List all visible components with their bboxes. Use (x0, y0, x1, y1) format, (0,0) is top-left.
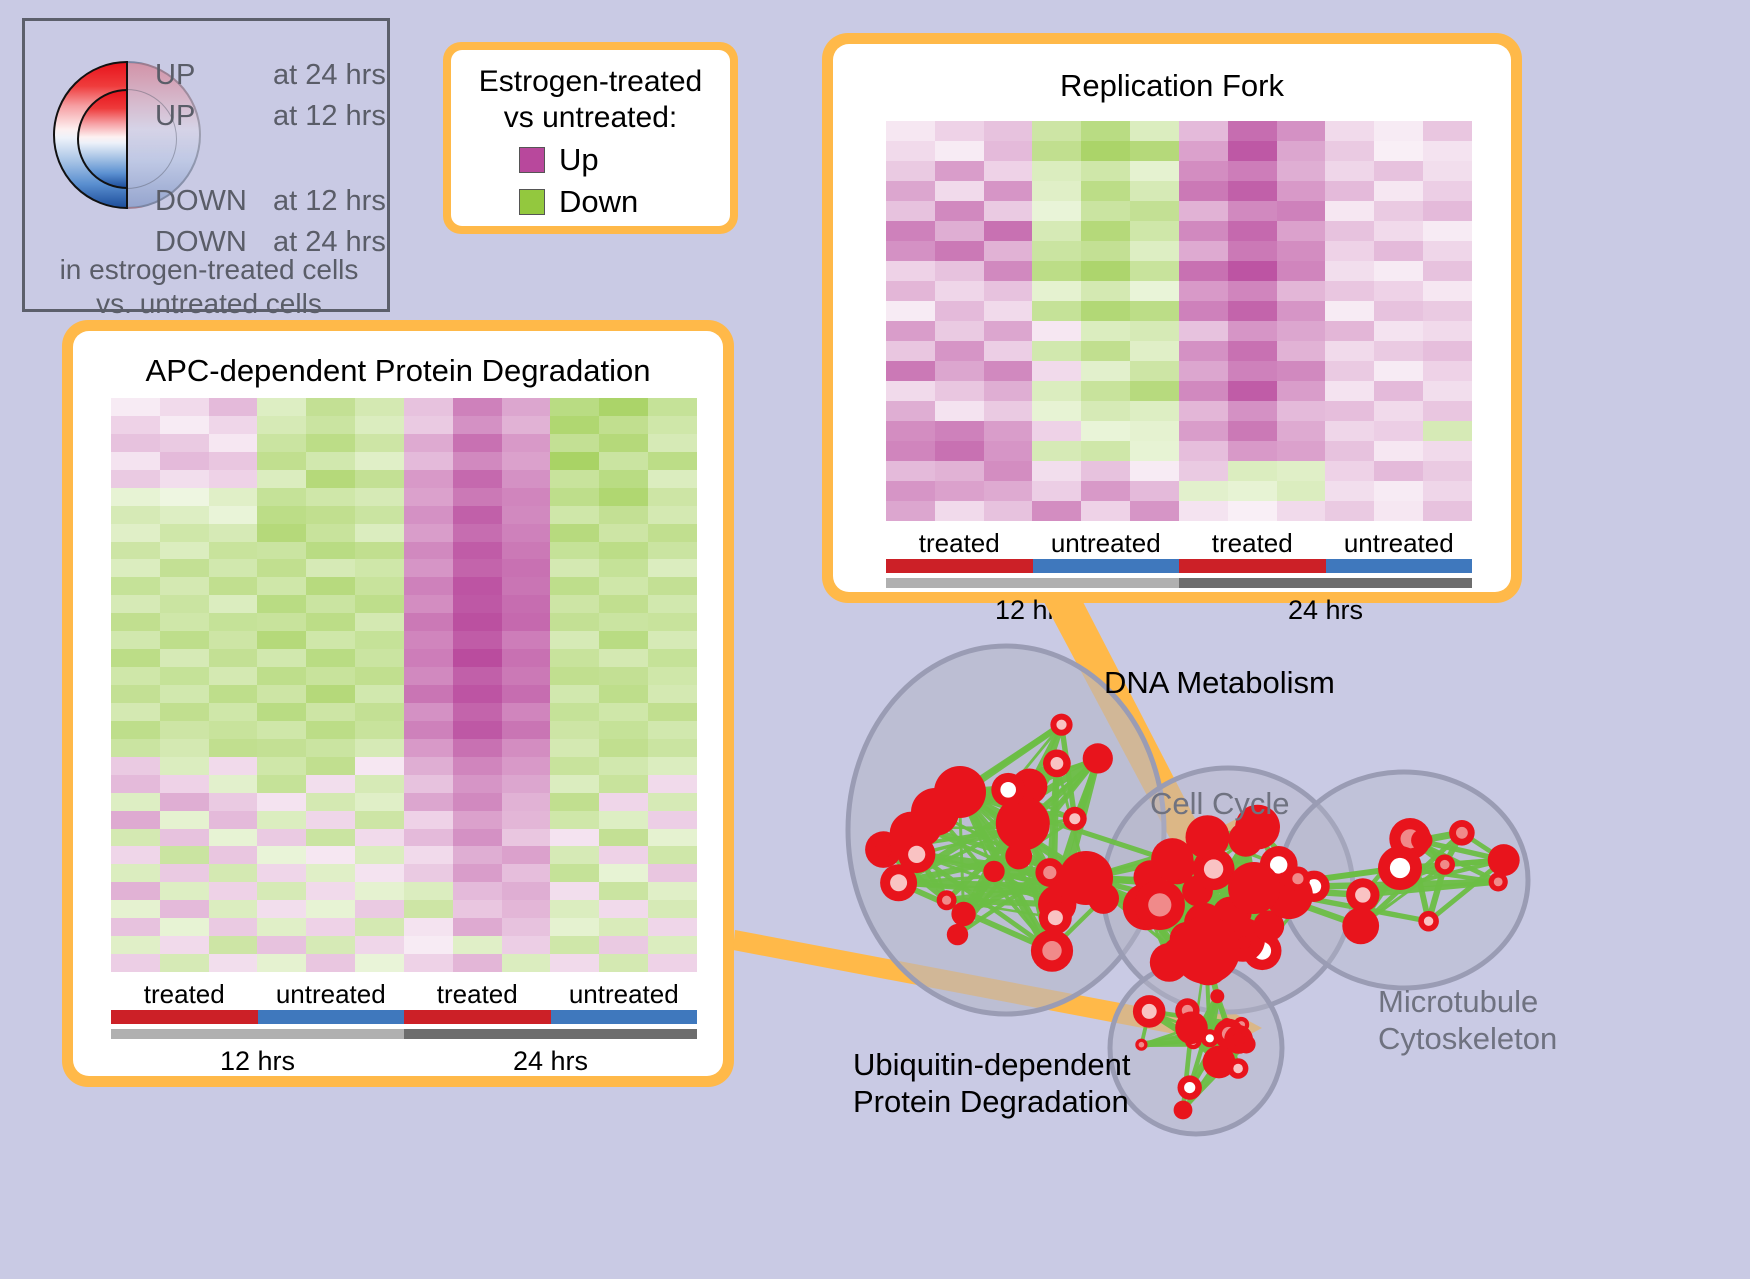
network-edge (994, 871, 1050, 872)
heatmap-cell (453, 577, 502, 595)
heatmap-cell (1032, 321, 1081, 341)
treatment-bar-untreated (258, 1010, 405, 1024)
network-edge (1410, 839, 1504, 860)
network-edge (1227, 1024, 1238, 1068)
colorwheel-direction: UP (155, 102, 273, 131)
network-edge (1169, 951, 1262, 963)
network-edge (917, 854, 1057, 904)
heatmap-cell (935, 501, 984, 521)
heatmap-cell (209, 864, 258, 882)
network-edge (1400, 860, 1504, 868)
heatmap-cell (1032, 441, 1081, 461)
network-node-core (1149, 915, 1156, 922)
network-edge (1193, 996, 1217, 1041)
network-edge (1219, 1062, 1238, 1069)
heatmap-cell (1277, 481, 1326, 501)
heatmap-cell (550, 685, 599, 703)
network-edge (1141, 1024, 1227, 1045)
treatment-label: untreated (1326, 528, 1473, 559)
network-edge (1023, 824, 1048, 953)
network-node (1184, 903, 1224, 943)
network-edge (1262, 926, 1269, 951)
network-edge (1187, 886, 1314, 939)
heatmap-cell (160, 864, 209, 882)
network-node (890, 812, 934, 856)
network-edge (1086, 878, 1254, 888)
network-edge (1172, 859, 1254, 888)
network-edge (1410, 839, 1498, 882)
heatmap-cell (1374, 301, 1423, 321)
heatmap-cell (984, 401, 1033, 421)
heatmap-cell (1228, 401, 1277, 421)
heatmap-cell (355, 452, 404, 470)
heatmap-cell (599, 506, 648, 524)
heatmap-cell (502, 398, 551, 416)
heatmap-cell (550, 559, 599, 577)
network-edge (1048, 898, 1104, 953)
treatment-colorbar-rf (886, 559, 1472, 573)
heatmap-cell (648, 488, 697, 506)
heatmap-cell (502, 559, 551, 577)
network-node (1238, 936, 1251, 949)
heatmap-cell (984, 421, 1033, 441)
network-edge (1208, 940, 1243, 965)
network-edge (1214, 869, 1269, 926)
heatmap-cell (306, 864, 355, 882)
network-edge (1180, 950, 1206, 955)
network-node-core (1190, 1037, 1198, 1045)
network-edge (1210, 996, 1218, 1038)
network-edge (899, 824, 1023, 883)
heatmap-cell (984, 241, 1033, 261)
heatmap-cell (453, 506, 502, 524)
treatment-label: untreated (551, 979, 698, 1010)
network-edge (1208, 827, 1258, 837)
network-edge (1445, 833, 1462, 865)
network-edge (1086, 878, 1179, 945)
heatmap-cell (935, 401, 984, 421)
network-edge (1008, 790, 1048, 953)
heatmap-cell (257, 452, 306, 470)
heatmap-cell (1179, 161, 1228, 181)
network-edge (1150, 877, 1230, 915)
network-edge (1160, 905, 1180, 955)
network-node-core (1136, 896, 1158, 918)
network-edge (1192, 1028, 1194, 1041)
heatmap-cell (453, 631, 502, 649)
network-node-core (1139, 1042, 1145, 1048)
network-node (1286, 867, 1310, 891)
heatmap-cell (160, 559, 209, 577)
heatmap-cell (111, 829, 160, 847)
heatmap-cell (160, 631, 209, 649)
network-edge (958, 763, 1057, 934)
heatmap-cell (160, 846, 209, 864)
network-edge (1239, 893, 1252, 913)
network-edge (1187, 939, 1209, 965)
heatmap-cell (1325, 221, 1374, 241)
network-edge (994, 824, 1023, 872)
heatmap-cell (306, 882, 355, 900)
network-edge (958, 873, 1050, 935)
network-edge (994, 871, 1103, 898)
heatmap-cell (550, 703, 599, 721)
heatmap-cell (1228, 341, 1277, 361)
heatmap-cell (404, 416, 453, 434)
network-edge (1023, 828, 1056, 887)
cluster-label-cell-cycle: Cell Cycle (1150, 785, 1290, 822)
heatmap-cell (1032, 341, 1081, 361)
heatmap-cell (355, 542, 404, 560)
colorwheel-time: at 24 hrs (273, 61, 386, 90)
heatmap-cell (209, 900, 258, 918)
heatmap-cell (1277, 381, 1326, 401)
network-edge (899, 873, 1050, 883)
heatmap-cell (1374, 381, 1423, 401)
network-edge (899, 883, 1052, 951)
heatmap-cell (209, 936, 258, 954)
heatmap-cell (648, 721, 697, 739)
network-edge (1152, 918, 1243, 940)
heatmap-cell (160, 793, 209, 811)
heatmap-cell (111, 631, 160, 649)
heatmap-cell (648, 757, 697, 775)
network-node (1182, 876, 1213, 907)
network-edge (994, 819, 1075, 872)
heatmap-cell (306, 488, 355, 506)
heatmap-cell (111, 434, 160, 452)
network-edge (1361, 868, 1400, 926)
heatmap-cell (984, 281, 1033, 301)
network-node-core (1148, 893, 1171, 916)
network-node (1228, 1058, 1249, 1079)
heatmap-cell (404, 775, 453, 793)
heatmap-cell (984, 481, 1033, 501)
heatmap-cell (935, 201, 984, 221)
updown-title-line2: vs untreated: (461, 100, 720, 136)
heatmap-cell (1179, 461, 1228, 481)
heatmap-cell (1130, 121, 1179, 141)
network-edge (1086, 878, 1254, 888)
heatmap-cell (1374, 141, 1423, 161)
network-edge (1086, 859, 1172, 878)
network-edge (923, 828, 947, 901)
heatmap-cell (404, 811, 453, 829)
colorwheel-label-list: UP at 24 hrs UP at 12 hrs DOWN at 12 hrs… (155, 47, 395, 257)
network-edge (1206, 940, 1243, 950)
heatmap-cell (1081, 401, 1130, 421)
heatmap-cell (453, 846, 502, 864)
network-edge (1208, 914, 1230, 964)
network-node (1007, 811, 1040, 844)
heatmap-cell (984, 181, 1033, 201)
network-node (1011, 769, 1047, 805)
heatmap-cell (1277, 461, 1326, 481)
heatmap-cell (1228, 461, 1277, 481)
treatment-labels-rf: treated untreated treated untreated (886, 528, 1472, 559)
network-edge (1172, 859, 1278, 865)
heatmap-cell (1228, 161, 1277, 181)
heatmap-cell (111, 613, 160, 631)
heatmap-cell (209, 398, 258, 416)
network-node-core (1242, 1040, 1251, 1049)
swatch-up-icon (519, 147, 545, 173)
heatmap-cell (1228, 181, 1277, 201)
heatmap-cell (1325, 501, 1374, 521)
heatmap-cell (599, 685, 648, 703)
heatmap-cell (1325, 241, 1374, 261)
network-edge (1262, 895, 1289, 951)
heatmap-cell (1423, 301, 1472, 321)
heatmap-cell (1374, 441, 1423, 461)
heatmap-cell (209, 739, 258, 757)
network-edge (1230, 893, 1252, 914)
heatmap-cell (355, 506, 404, 524)
heatmap-cell (1423, 201, 1472, 221)
network-edge (1204, 886, 1314, 923)
heatmap-cell (648, 649, 697, 667)
heatmap-cell (1374, 481, 1423, 501)
heatmap-cell (1130, 201, 1179, 221)
network-edge (1187, 839, 1246, 939)
heatmap-cell (1325, 441, 1374, 461)
heatmap-cell (648, 864, 697, 882)
colorwheel-time: at 12 hrs (273, 102, 386, 131)
heatmap-cell (502, 775, 551, 793)
heatmap-cell (355, 775, 404, 793)
heatmap-cell (599, 703, 648, 721)
heatmap-cell (111, 577, 160, 595)
network-edge (1206, 914, 1230, 950)
cluster-label-line: Protein Degradation (853, 1083, 1131, 1120)
network-edge (1052, 763, 1057, 950)
heatmap-cell (355, 739, 404, 757)
heatmap-cell (599, 434, 648, 452)
heatmap-cell (984, 161, 1033, 181)
network-edge (959, 790, 1008, 793)
network-node (1123, 883, 1170, 930)
heatmap-cell (502, 918, 551, 936)
network-node (1199, 922, 1211, 934)
heatmap-cell (209, 542, 258, 560)
network-edge (1198, 869, 1214, 891)
heatmap-cell (1423, 281, 1472, 301)
heatmap-cell (1325, 401, 1374, 421)
heatmap-cell (1325, 201, 1374, 221)
network-edge (1183, 1025, 1241, 1110)
heatmap-cell (886, 421, 935, 441)
heatmap-cell (935, 241, 984, 261)
network-node (1185, 1033, 1202, 1050)
treatment-label: treated (886, 528, 1033, 559)
treatment-bar-untreated (1033, 559, 1180, 573)
network-edge (1086, 878, 1206, 950)
network-edge (1258, 827, 1290, 895)
heatmap-cell (111, 846, 160, 864)
heatmap-cell (160, 882, 209, 900)
network-node-core (890, 874, 907, 891)
network-edge (959, 792, 1075, 818)
network-edge (1146, 907, 1180, 955)
network-edge (1146, 907, 1268, 926)
heatmap-cell (1277, 121, 1326, 141)
network-edge (1177, 867, 1252, 894)
heatmap-cell (502, 488, 551, 506)
network-node-core (1494, 878, 1503, 887)
network-edge (960, 792, 1086, 878)
heatmap-cell (886, 141, 935, 161)
network-edge (899, 883, 1104, 899)
network-node (911, 788, 959, 836)
network-edge (1206, 869, 1214, 950)
heatmap-cell (355, 470, 404, 488)
network-edge (1187, 1011, 1228, 1034)
heatmap-cell (1228, 441, 1277, 461)
network-edge (1008, 790, 1075, 819)
network-edge (917, 854, 1052, 950)
network-edge (1179, 939, 1187, 945)
heatmap-cell (1032, 141, 1081, 161)
network-edge (1197, 945, 1208, 965)
network-edge (1210, 1038, 1219, 1062)
network-edge (1149, 1011, 1191, 1027)
heatmap-cell (209, 524, 258, 542)
network-edge (1206, 837, 1208, 950)
network-node (1035, 858, 1064, 887)
heatmap-cell (648, 739, 697, 757)
heatmap-cell (404, 488, 453, 506)
heatmap-cell (984, 341, 1033, 361)
time-label: 12 hrs (886, 595, 1179, 626)
network-node-core (1016, 820, 1031, 835)
heatmap-cell (1081, 241, 1130, 261)
heatmap-cell (257, 595, 306, 613)
heatmap-cell (306, 434, 355, 452)
heatmap-cell (1423, 221, 1472, 241)
heatmap-cell (648, 846, 697, 864)
network-edge (994, 763, 1057, 871)
heatmap-cell (1228, 221, 1277, 241)
heatmap-cell (886, 481, 935, 501)
network-edge (1190, 1034, 1229, 1088)
heatmap-cell (404, 829, 453, 847)
network-node-core (1172, 947, 1189, 964)
heatmap-cell (209, 703, 258, 721)
network-edge (1206, 950, 1217, 996)
heatmap-cell (1130, 181, 1179, 201)
heatmap-cell (404, 900, 453, 918)
network-edge (1183, 1028, 1192, 1110)
heatmap-cell (355, 577, 404, 595)
network-edge (1179, 940, 1243, 945)
network-edge (935, 812, 1050, 873)
network-node-core (1270, 856, 1287, 873)
heatmap-cell (355, 721, 404, 739)
heatmap-cell (550, 829, 599, 847)
heatmap-cell (1179, 141, 1228, 161)
network-edge (994, 871, 1057, 904)
network-node-core (1238, 1021, 1245, 1028)
heatmap-cell (1032, 201, 1081, 221)
heatmap-cell (1081, 501, 1130, 521)
heatmap-cell (550, 595, 599, 613)
network-edge (1146, 907, 1169, 963)
heatmap-cell (453, 954, 502, 972)
heatmap-cell (453, 864, 502, 882)
network-node (1035, 940, 1061, 966)
heatmap-cell (160, 416, 209, 434)
heatmap-cell (257, 829, 306, 847)
heatmap-cell (1325, 381, 1374, 401)
heatmap-cell (1179, 361, 1228, 381)
heatmap-cell (257, 775, 306, 793)
network-edge (1192, 1028, 1239, 1040)
heatmap-cell (1130, 321, 1179, 341)
heatmap-cell (1374, 421, 1423, 441)
heatmap-cell (404, 685, 453, 703)
network-edge (1179, 839, 1246, 944)
network-edge (1180, 891, 1198, 955)
heatmap-cell (599, 757, 648, 775)
legend-item-down: Down (519, 184, 720, 220)
heatmap-cell (1277, 281, 1326, 301)
heatmap-cell (935, 461, 984, 481)
network-node (1043, 750, 1071, 778)
network-edge (1023, 828, 1057, 905)
network-edge (1192, 1024, 1227, 1028)
heatmap-cell (355, 811, 404, 829)
network-edge (1254, 868, 1400, 888)
network-node (1150, 943, 1189, 982)
network-edge (1152, 918, 1269, 926)
network-edge (1152, 859, 1172, 918)
time-bar-12hrs (886, 578, 1179, 588)
heatmap-cell (355, 918, 404, 936)
network-edge (960, 792, 1052, 951)
heatmap-cell (1325, 421, 1374, 441)
network-edge (958, 787, 1030, 935)
network-edge (1179, 945, 1206, 951)
treatment-label: untreated (1033, 528, 1180, 559)
network-node-core (1204, 859, 1223, 878)
network-edge (960, 792, 1057, 904)
heatmap-cell (404, 882, 453, 900)
heatmap-cell (886, 221, 935, 241)
heatmap-cell (1277, 181, 1326, 201)
heatmap-cell (111, 900, 160, 918)
heatmap-cell (502, 667, 551, 685)
network-edge (1190, 996, 1218, 1087)
heatmap-cell (453, 829, 502, 847)
heatmap-cell (1130, 301, 1179, 321)
heatmap-cell (1228, 301, 1277, 321)
network-edge (1243, 895, 1289, 939)
heatmap-cell (1130, 421, 1179, 441)
heatmap-cell (984, 141, 1033, 161)
network-edge (1198, 891, 1243, 940)
heatmap-cell (209, 577, 258, 595)
heatmap-cell (984, 501, 1033, 521)
heatmap-cell (257, 864, 306, 882)
network-edge (1057, 878, 1086, 904)
heatmap-cell (257, 613, 306, 631)
heatmap-cell (1179, 401, 1228, 421)
heatmap-cell (111, 936, 160, 954)
heatmap-cell (984, 261, 1033, 281)
network-edge (1197, 837, 1207, 945)
heatmap-cell (160, 811, 209, 829)
heatmap-cell (1032, 501, 1081, 521)
